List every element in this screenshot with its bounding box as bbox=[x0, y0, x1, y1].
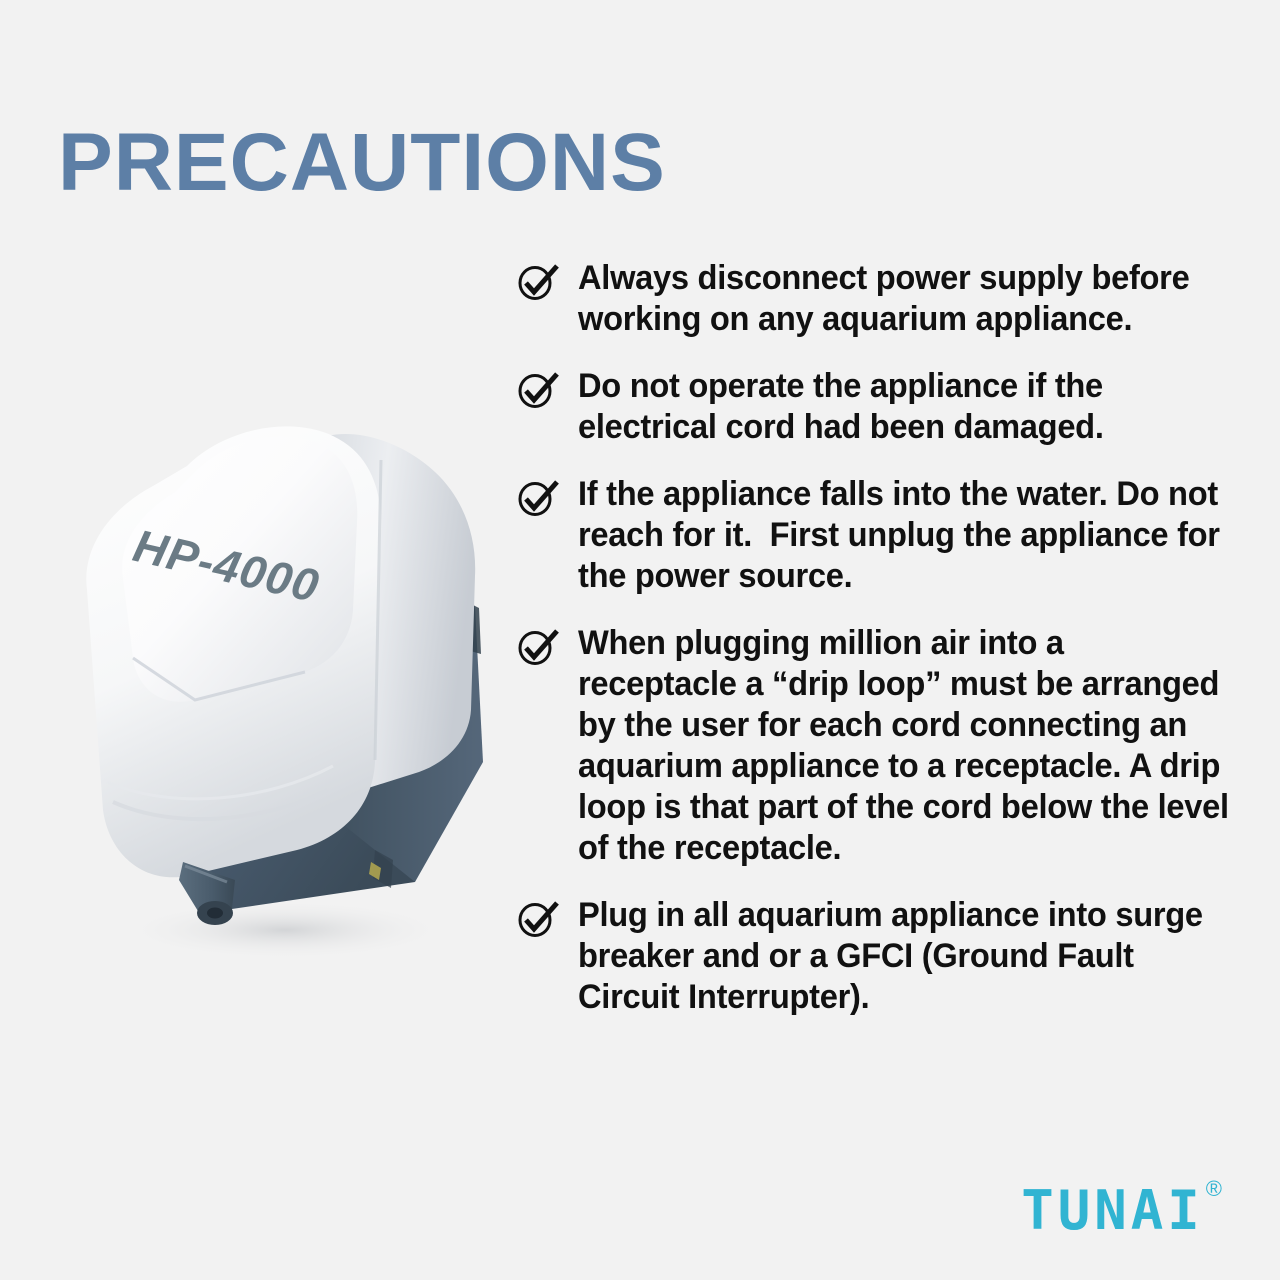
precaution-item-5: Plug in all aquarium appliance into surg… bbox=[516, 895, 1256, 1018]
precaution-text: Do not operate the appliance if the elec… bbox=[578, 366, 1229, 448]
check-circle-icon bbox=[516, 627, 560, 667]
product-shadow bbox=[120, 900, 450, 960]
check-circle-icon bbox=[516, 899, 560, 939]
precaution-item-2: Do not operate the appliance if the elec… bbox=[516, 366, 1256, 448]
precaution-text: Plug in all aquarium appliance into surg… bbox=[578, 895, 1229, 1018]
check-circle-icon bbox=[516, 478, 560, 518]
brand-logo: TUNAI ® bbox=[1021, 1182, 1222, 1240]
check-circle-icon bbox=[516, 262, 560, 302]
registered-trademark-icon: ® bbox=[1206, 1178, 1222, 1200]
precaution-item-1: Always disconnect power supply before wo… bbox=[516, 258, 1256, 340]
check-circle-icon bbox=[516, 370, 560, 410]
brand-wordmark: TUNAI bbox=[1021, 1182, 1204, 1240]
pump-outlet-bore bbox=[207, 908, 223, 919]
precaution-item-4: When plugging million air into a recepta… bbox=[516, 623, 1256, 869]
precaution-item-3: If the appliance falls into the water. D… bbox=[516, 474, 1256, 597]
precaution-text: If the appliance falls into the water. D… bbox=[578, 474, 1229, 597]
precautions-page: PRECAUTIONS bbox=[0, 0, 1280, 1280]
precaution-text: When plugging million air into a recepta… bbox=[578, 623, 1229, 869]
precaution-text: Always disconnect power supply before wo… bbox=[578, 258, 1229, 340]
precautions-list: Always disconnect power supply before wo… bbox=[516, 258, 1256, 1044]
air-pump-illustration: HP-4000 bbox=[75, 410, 505, 970]
product-image: HP-4000 bbox=[75, 410, 505, 970]
page-title: PRECAUTIONS bbox=[58, 117, 666, 209]
